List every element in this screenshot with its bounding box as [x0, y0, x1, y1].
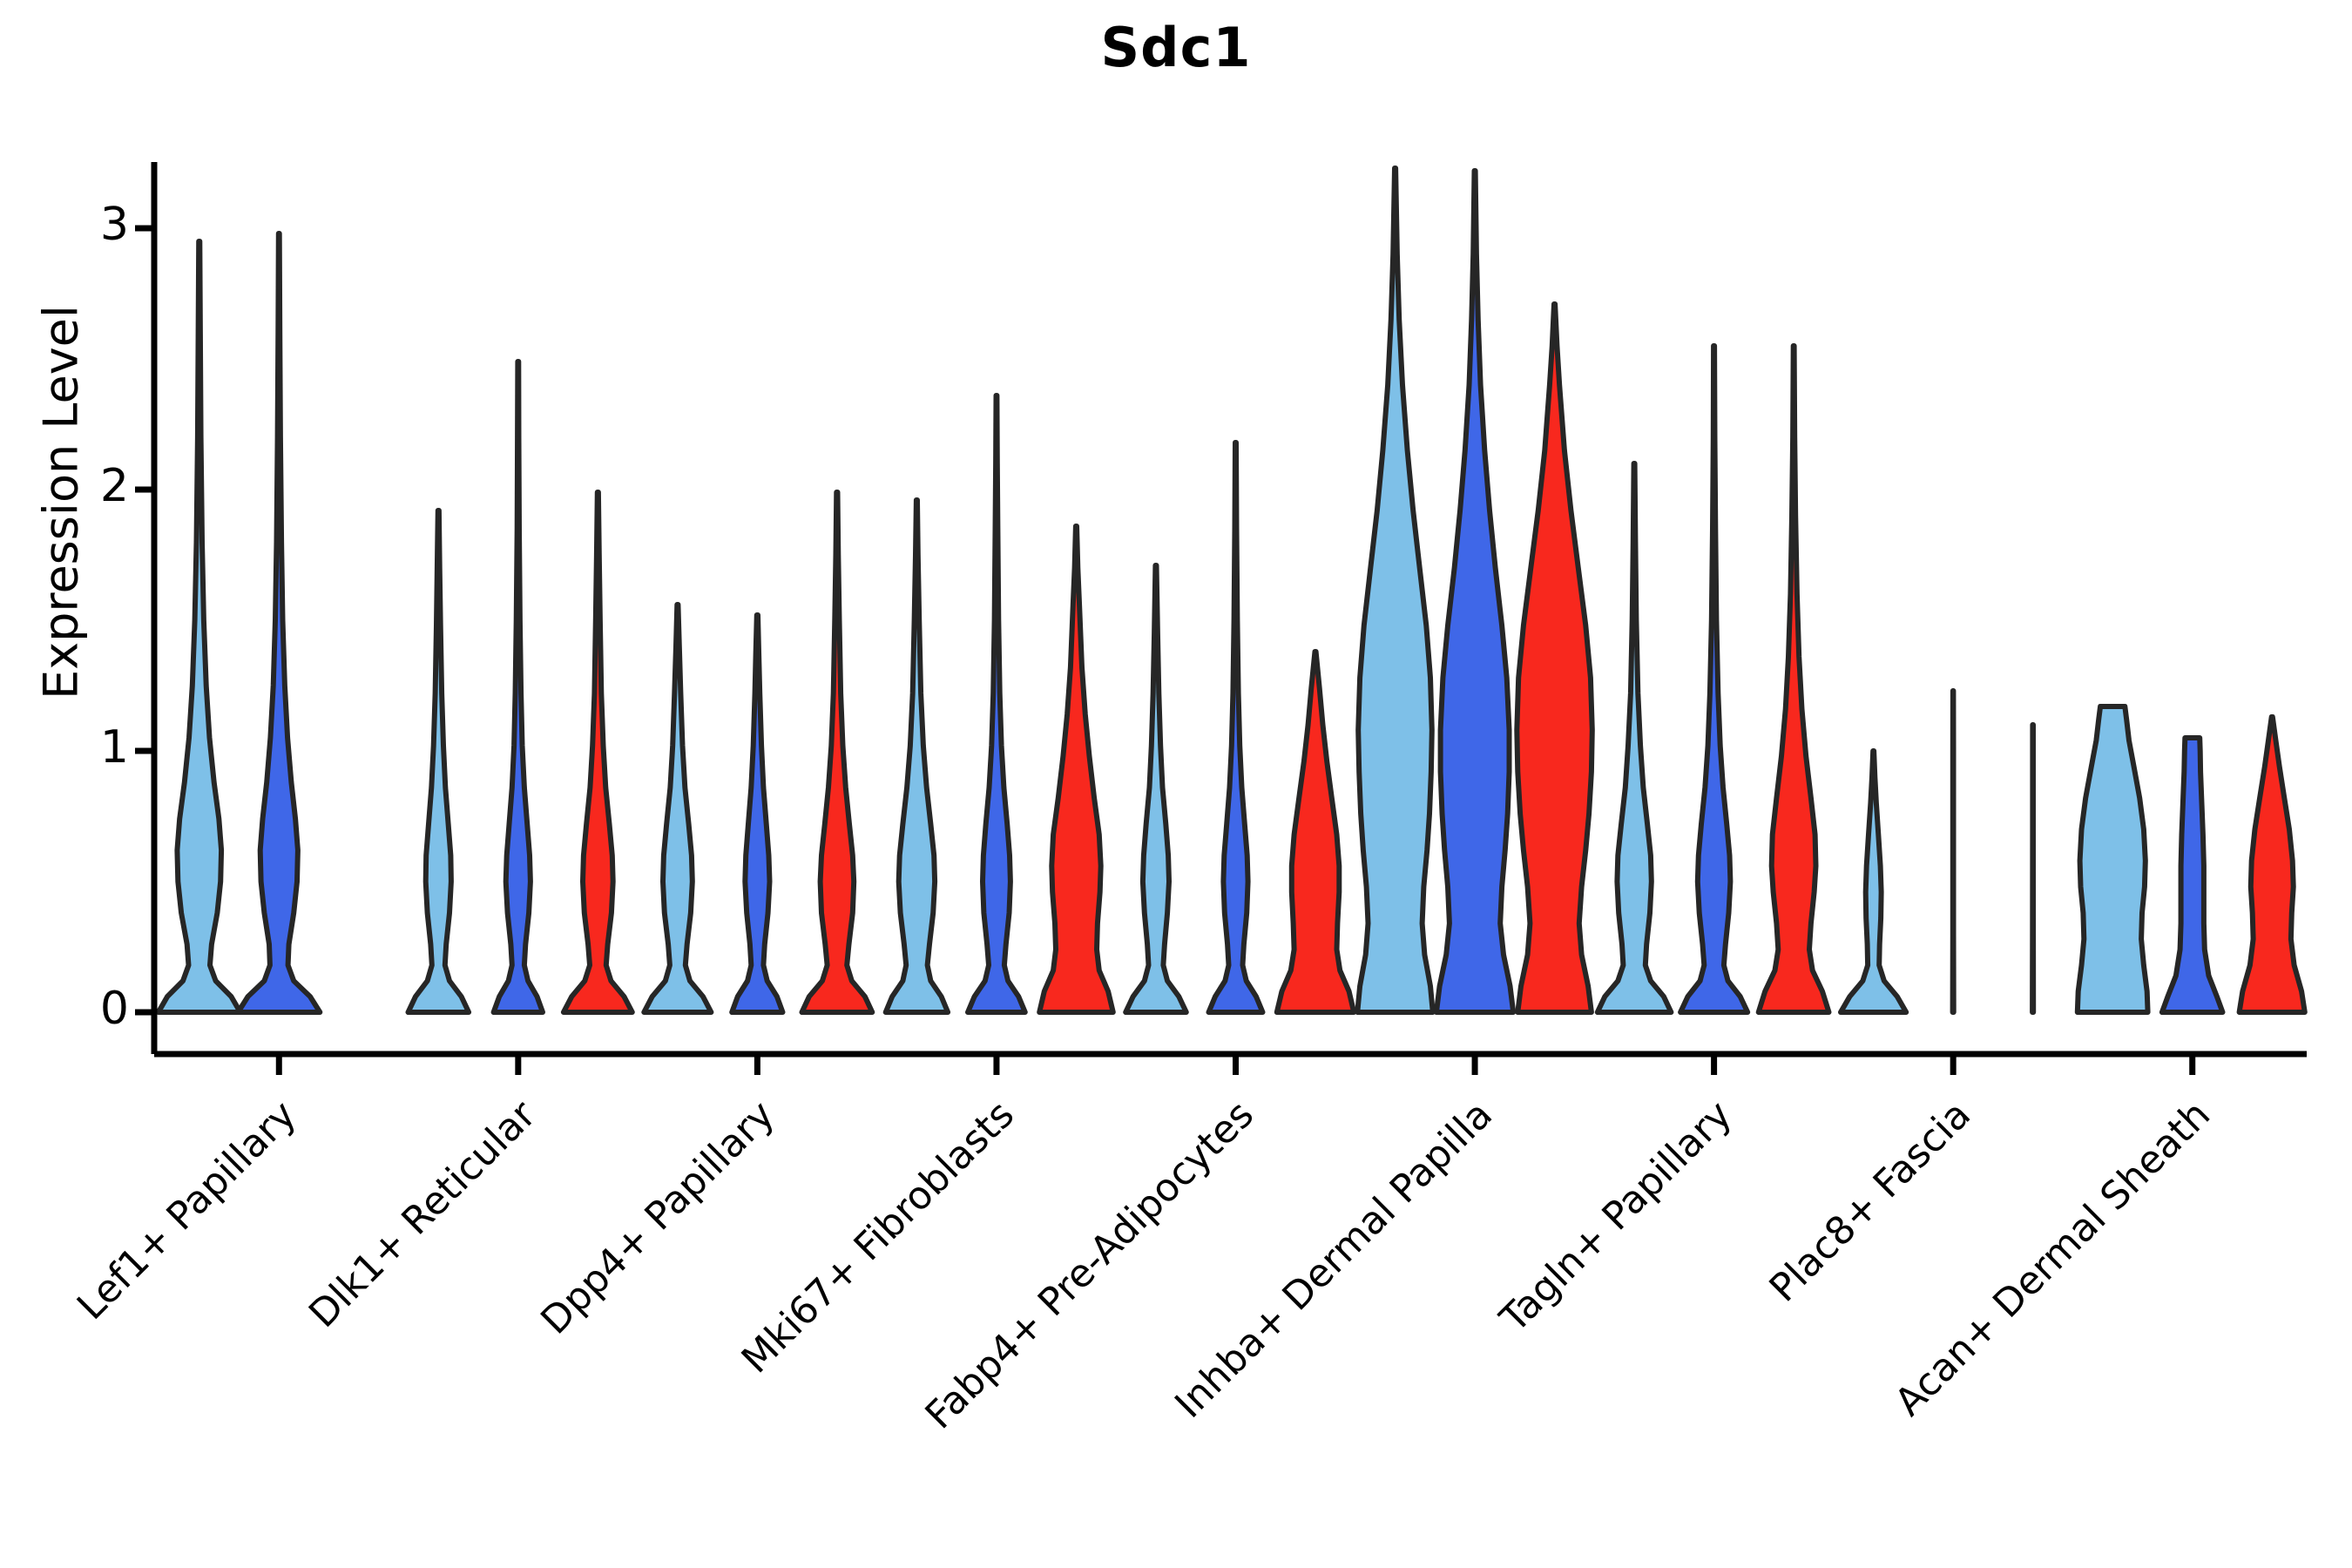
violin-7-1	[1953, 691, 1954, 1012]
violin-2-2	[802, 492, 873, 1012]
violin-6-1	[1680, 346, 1747, 1012]
violin-5-1	[1436, 171, 1513, 1012]
violin-6-2	[1759, 346, 1829, 1012]
violin-1-2	[564, 492, 632, 1012]
violin-0-0	[159, 241, 240, 1012]
y-tick-label-3: 3	[61, 199, 129, 251]
y-tick-label-1: 1	[61, 721, 129, 774]
violin-5-0	[1357, 168, 1433, 1012]
violin-4-2	[1277, 652, 1354, 1012]
violin-7-2	[2032, 725, 2033, 1012]
violin-2-0	[644, 605, 711, 1012]
violin-2-1	[732, 615, 782, 1012]
y-tick-label-2: 2	[61, 460, 129, 512]
y-tick-label-0: 0	[61, 983, 129, 1035]
violin-4-1	[1209, 443, 1263, 1012]
violin-3-0	[886, 500, 948, 1012]
violin-4-0	[1125, 565, 1186, 1012]
violin-0-1	[238, 233, 320, 1012]
violin-3-2	[1039, 526, 1113, 1012]
violin-5-2	[1517, 304, 1592, 1012]
violin-8-2	[2240, 717, 2305, 1012]
axis-layer	[135, 162, 2307, 1075]
violin-plot-figure: Sdc1 Expression Level 0123 Lef1+ Papilla…	[0, 0, 2352, 1568]
violin-1-1	[494, 362, 543, 1012]
violin-6-0	[1598, 463, 1672, 1012]
violin-layer	[159, 168, 2305, 1012]
violin-8-0	[2078, 706, 2148, 1012]
violin-8-1	[2162, 738, 2223, 1012]
violin-3-1	[968, 395, 1025, 1012]
violin-7-0	[1841, 751, 1906, 1012]
violin-1-0	[409, 510, 470, 1012]
